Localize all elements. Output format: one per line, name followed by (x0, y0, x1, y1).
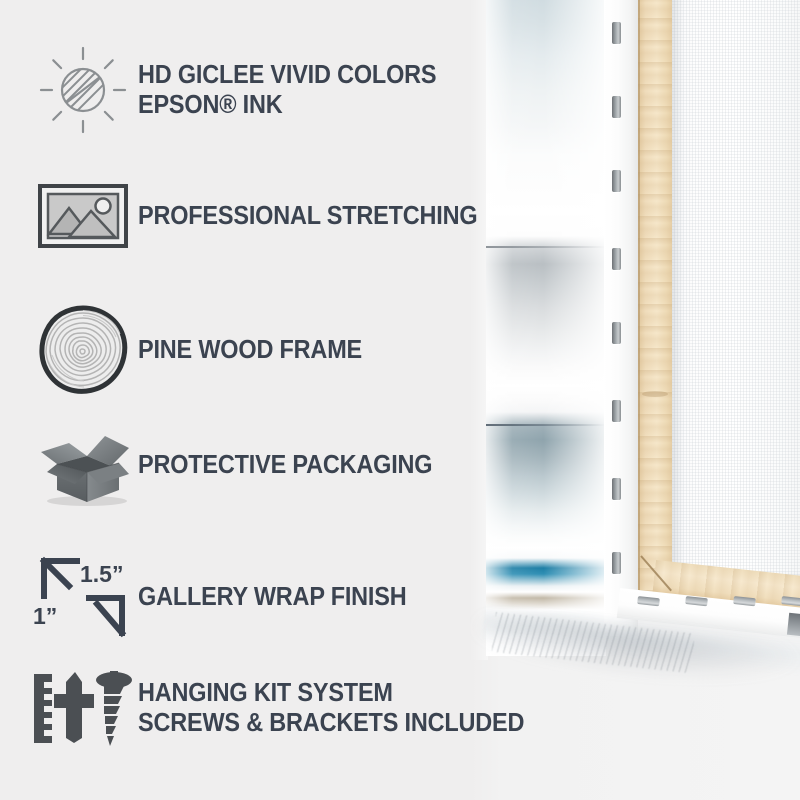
hanging-hardware-icon (22, 668, 138, 748)
staple (612, 322, 621, 344)
staple (612, 400, 621, 422)
bottom-right-hardware-notch (787, 613, 800, 638)
feature-label-gallery-wrap-finish: GALLERY WRAP FINISH (138, 582, 406, 612)
feature-item-hanging-kit: HANGING KIT SYSTEM SCREWS & BRACKETS INC… (22, 668, 558, 748)
canvas-foldover-band (604, 0, 638, 636)
framed-picture-icon (28, 178, 138, 254)
tree-rings-icon (28, 305, 138, 395)
product-feature-infographic: HD GICLEE VIVID COLORS EPSON® INK PROFES… (0, 0, 800, 800)
feature-item-protective-packaging: PROTECTIVE PACKAGING (28, 422, 458, 508)
feature-label-hd-giclee: HD GICLEE VIVID COLORS EPSON® INK (138, 60, 436, 120)
feature-item-professional-stretching: PROFESSIONAL STRETCHING (28, 178, 507, 254)
feature-item-gallery-wrap-finish: 1.5” 1” GALLERY WRAP FINISH (28, 552, 430, 642)
staple (612, 248, 621, 270)
feature-label-line1: HANGING KIT SYSTEM (138, 679, 393, 707)
staple (612, 22, 621, 44)
staple (612, 170, 621, 192)
feature-label-pine-wood-frame: PINE WOOD FRAME (138, 335, 362, 365)
feature-label-hanging-kit: HANGING KIT SYSTEM SCREWS & BRACKETS INC… (138, 678, 524, 738)
feature-label-protective-packaging: PROTECTIVE PACKAGING (138, 450, 432, 480)
depth-arrows-icon: 1.5” 1” (28, 552, 138, 642)
feature-label-line2: EPSON® INK (138, 90, 436, 120)
depth-label-top: 1.5” (80, 561, 123, 587)
staple (612, 552, 621, 574)
pine-stretcher-bar-vertical (638, 0, 672, 618)
feature-item-pine-wood-frame: PINE WOOD FRAME (28, 305, 382, 395)
depth-label-bottom: 1” (33, 603, 57, 629)
open-box-icon (28, 422, 138, 508)
sun-icon (28, 44, 138, 136)
feature-list: HD GICLEE VIVID COLORS EPSON® INK PROFES… (0, 0, 520, 800)
canvas-back-surface (668, 0, 800, 596)
feature-label-line1: HD GICLEE VIVID COLORS (138, 61, 436, 89)
feature-label-line2: SCREWS & BRACKETS INCLUDED (138, 708, 524, 738)
staple (612, 478, 621, 500)
feature-label-professional-stretching: PROFESSIONAL STRETCHING (138, 201, 477, 231)
wood-grain-knot (642, 391, 668, 397)
staple (612, 96, 621, 118)
feature-item-hd-giclee: HD GICLEE VIVID COLORS EPSON® INK (28, 44, 462, 136)
